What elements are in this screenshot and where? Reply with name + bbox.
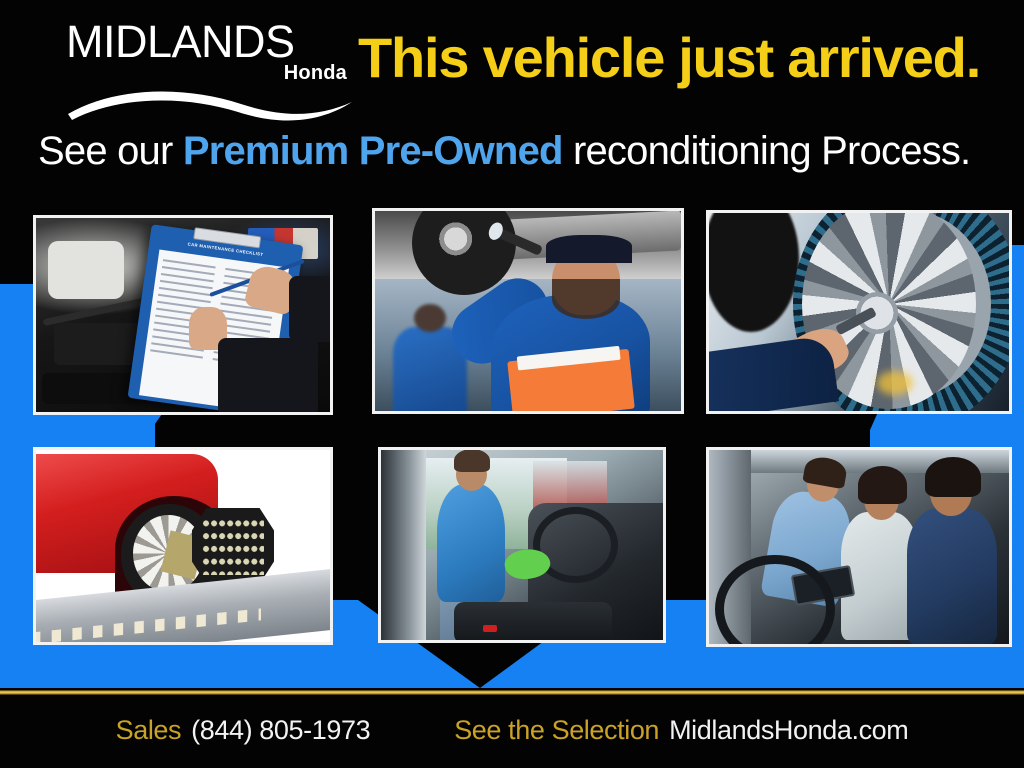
photo-wheel-alignment[interactable] bbox=[33, 447, 333, 645]
see-the-selection-label: See the Selection bbox=[454, 715, 659, 746]
website-link-group[interactable]: See the Selection MidlandsHonda.com bbox=[454, 715, 908, 746]
photo-interior-detailing[interactable] bbox=[378, 447, 666, 643]
headline-line-b: just arrived. bbox=[678, 26, 980, 89]
promo-banner: MIDLANDS Honda This vehiclejust arrived.… bbox=[0, 0, 1024, 768]
sales-phone-number[interactable]: (844) 805-1973 bbox=[191, 715, 370, 746]
website-url[interactable]: MidlandsHonda.com bbox=[669, 715, 908, 746]
sales-label: Sales bbox=[116, 715, 182, 746]
photo-customer-delivery[interactable] bbox=[706, 447, 1012, 647]
subheadline: See our Premium Pre-Owned reconditioning… bbox=[38, 126, 970, 176]
banner-footer: Sales (844) 805-1973 See the Selection M… bbox=[0, 695, 1024, 768]
logo-wordmark: MIDLANDS bbox=[66, 18, 346, 65]
swoosh-icon bbox=[66, 80, 356, 122]
subhead-prefix: See our bbox=[38, 129, 183, 173]
headline-line-a: This vehicle bbox=[358, 26, 664, 89]
sales-contact[interactable]: Sales (844) 805-1973 bbox=[116, 715, 371, 746]
dealership-logo[interactable]: MIDLANDS Honda bbox=[66, 18, 346, 98]
banner-header: MIDLANDS Honda This vehiclejust arrived.… bbox=[0, 0, 1024, 196]
photo-undercarriage-inspection[interactable] bbox=[372, 208, 684, 414]
page-title: This vehiclejust arrived. bbox=[358, 27, 980, 89]
photo-wheel-service[interactable] bbox=[706, 210, 1012, 414]
subhead-suffix: reconditioning Process. bbox=[563, 129, 971, 173]
photo-engine-checklist[interactable]: CAR MAINTENANCE CHECKLIST bbox=[33, 215, 333, 415]
subhead-highlight: Premium Pre-Owned bbox=[183, 129, 563, 173]
